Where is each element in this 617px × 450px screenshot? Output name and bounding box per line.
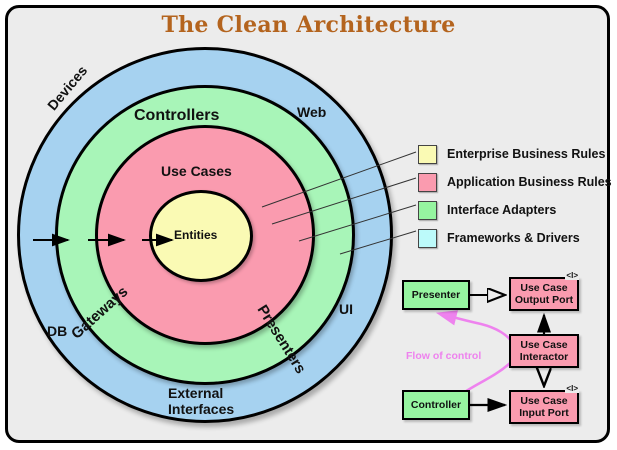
flow-of-control-diagram: Presenter <I> Use Case Output Port Use C…	[397, 272, 597, 430]
flow-box-presenter-label: Presenter	[412, 289, 460, 301]
label-use-cases: Use Cases	[161, 163, 232, 179]
label-entities: Entities	[174, 228, 217, 242]
flow-box-input-port-line1: Use Case	[520, 395, 567, 407]
flow-box-controller-label: Controller	[411, 399, 461, 411]
legend-swatch-enterprise	[418, 145, 437, 164]
clean-architecture-diagram: The Clean Architecture	[0, 0, 617, 450]
flow-box-interactor-line1: Use Case	[520, 339, 567, 351]
legend: Enterprise Business Rules Application Bu…	[418, 142, 612, 254]
legend-label-application: Application Business Rules	[447, 175, 612, 189]
flow-box-output-port-line1: Use Case	[520, 282, 567, 294]
legend-item-frameworks-drivers: Frameworks & Drivers	[418, 226, 612, 250]
flow-box-use-case-output-port[interactable]: <I> Use Case Output Port	[509, 277, 579, 311]
legend-label-enterprise: Enterprise Business Rules	[447, 147, 605, 161]
legend-label-interface-adapters: Interface Adapters	[447, 203, 556, 217]
interface-marker-input-port: <I>	[565, 384, 579, 393]
label-controllers: Controllers	[134, 107, 219, 125]
legend-item-enterprise-business-rules: Enterprise Business Rules	[418, 142, 612, 166]
flow-box-presenter[interactable]: Presenter	[402, 280, 470, 310]
interface-marker-output-port: <I>	[565, 271, 579, 280]
flow-box-input-port-line2: Input Port	[519, 407, 569, 419]
flow-box-interactor-line2: Interactor	[520, 351, 568, 363]
legend-label-frameworks-drivers: Frameworks & Drivers	[447, 231, 580, 245]
label-db: DB	[47, 323, 67, 339]
legend-swatch-interface-adapters	[418, 201, 437, 220]
flow-of-control-label: Flow of control	[406, 350, 481, 362]
flow-box-controller[interactable]: Controller	[402, 390, 470, 420]
flow-box-output-port-line2: Output Port	[515, 294, 573, 306]
legend-item-interface-adapters: Interface Adapters	[418, 198, 612, 222]
legend-item-application-business-rules: Application Business Rules	[418, 170, 612, 194]
legend-swatch-application	[418, 173, 437, 192]
flow-box-use-case-input-port[interactable]: <I> Use Case Input Port	[509, 390, 579, 424]
label-ui: UI	[339, 301, 353, 317]
legend-swatch-frameworks-drivers	[418, 229, 437, 248]
page-title: The Clean Architecture	[0, 12, 617, 38]
label-web: Web	[297, 104, 326, 120]
flow-box-use-case-interactor[interactable]: Use Case Interactor	[509, 334, 579, 368]
